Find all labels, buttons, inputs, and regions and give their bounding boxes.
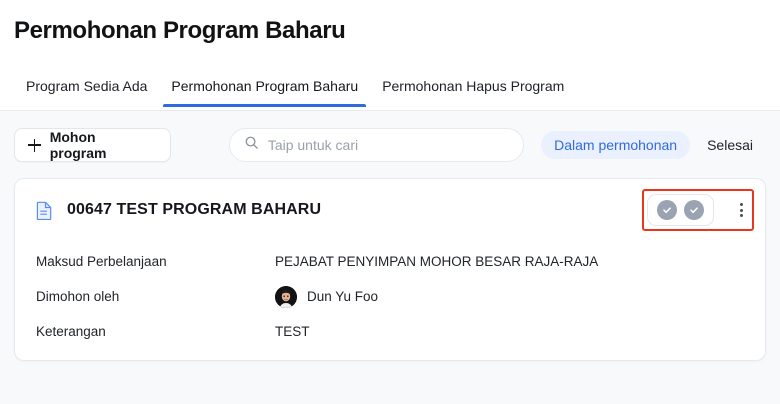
mohon-program-button[interactable]: Mohon program <box>14 128 171 162</box>
search-box[interactable] <box>229 128 524 162</box>
detail-label: Keterangan <box>31 324 275 339</box>
detail-value-wrap: TEST <box>275 324 310 339</box>
tab-program-sedia-ada[interactable]: Program Sedia Ada <box>14 77 159 106</box>
detail-label: Dimohon oleh <box>31 289 275 304</box>
filter-chip-label: Dalam permohonan <box>554 137 677 153</box>
search-icon <box>244 135 259 155</box>
toolbar: Mohon program Dalam permohonan Selesai <box>0 111 780 162</box>
detail-value-wrap: PEJABAT PENYIMPAN MOHOR BESAR RAJA-RAJA <box>275 254 598 269</box>
secondary-approve-button[interactable] <box>684 200 704 220</box>
app-page: Permohonan Program Baharu Program Sedia … <box>0 0 780 404</box>
detail-value: PEJABAT PENYIMPAN MOHOR BESAR RAJA-RAJA <box>275 254 598 269</box>
tab-permohonan-program-baharu[interactable]: Permohonan Program Baharu <box>159 77 370 106</box>
content-area: Mohon program Dalam permohonan Selesai <box>0 111 780 404</box>
tab-label: Permohonan Program Baharu <box>171 78 358 94</box>
mohon-program-label: Mohon program <box>50 129 154 161</box>
detail-label: Maksud Perbelanjaan <box>31 254 275 269</box>
document-icon <box>36 201 53 220</box>
approve-button[interactable] <box>657 200 677 220</box>
filter-chips: Dalam permohonan Selesai <box>541 131 766 159</box>
filter-chip-dalam-permohonan[interactable]: Dalam permohonan <box>541 131 690 159</box>
page-title: Permohonan Program Baharu <box>0 0 780 46</box>
approval-button-group <box>647 194 714 226</box>
detail-value-wrap: Dun Yu Foo <box>275 286 378 308</box>
tab-permohonan-hapus-program[interactable]: Permohonan Hapus Program <box>370 77 576 106</box>
detail-row: Maksud Perbelanjaan PEJABAT PENYIMPAN MO… <box>31 244 749 279</box>
page-header: Permohonan Program Baharu Program Sedia … <box>0 0 780 111</box>
card-details: Maksud Perbelanjaan PEJABAT PENYIMPAN MO… <box>31 244 749 349</box>
tab-label: Program Sedia Ada <box>26 78 147 94</box>
plus-icon <box>28 139 41 152</box>
detail-value: TEST <box>275 324 310 339</box>
kebab-menu-icon[interactable] <box>734 199 749 221</box>
avatar <box>275 286 297 308</box>
detail-row: Dimohon oleh <box>31 279 749 314</box>
filter-chip-label: Selesai <box>707 137 753 153</box>
filter-chip-selesai[interactable]: Selesai <box>694 131 766 159</box>
card-title: 00647 TEST PROGRAM BAHARU <box>67 201 321 219</box>
card-actions <box>647 194 749 226</box>
program-card: 00647 TEST PROGRAM BAHARU <box>14 178 766 361</box>
detail-value: Dun Yu Foo <box>307 289 378 304</box>
tab-label: Permohonan Hapus Program <box>382 78 564 94</box>
detail-row: Keterangan TEST <box>31 314 749 349</box>
card-header: 00647 TEST PROGRAM BAHARU <box>31 197 749 223</box>
search-input[interactable] <box>268 129 509 161</box>
tab-bar: Program Sedia Ada Permohonan Program Bah… <box>0 66 780 106</box>
